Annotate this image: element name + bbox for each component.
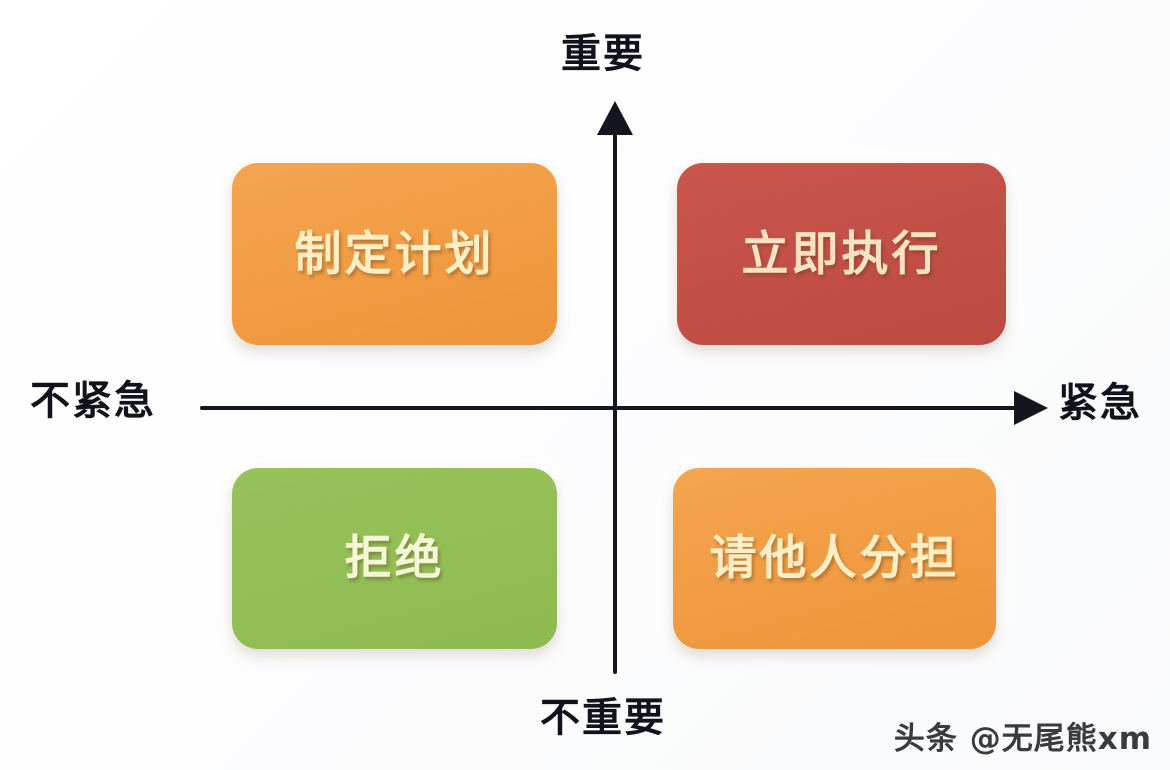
axis-label-not-urgent: 不紧急	[30, 381, 156, 421]
quadrant-important-not-urgent[interactable]: 制定计划	[232, 163, 557, 345]
arrow-up-icon	[597, 101, 633, 135]
eisenhower-matrix-diagram: 重要 不重要 不紧急 紧急 制定计划 立即执行 拒绝 请他人分担 头条 @无尾熊…	[0, 0, 1170, 770]
arrow-right-icon	[1014, 391, 1048, 425]
quadrant-not-important-not-urgent[interactable]: 拒绝	[232, 468, 557, 649]
watermark-text: 头条 @无尾熊xm	[894, 713, 1152, 758]
quadrant-label-delegate: 请他人分担	[710, 535, 960, 582]
axis-label-important: 重要	[561, 34, 645, 74]
horizontal-axis-line	[200, 406, 1036, 410]
quadrant-not-important-urgent[interactable]: 请他人分担	[673, 468, 996, 649]
axis-label-not-important: 不重要	[540, 698, 666, 738]
quadrant-label-execute-now: 立即执行	[742, 231, 942, 278]
vertical-axis-line	[613, 112, 617, 674]
quadrant-important-urgent[interactable]: 立即执行	[677, 163, 1006, 345]
quadrant-label-make-plan: 制定计划	[295, 231, 495, 278]
quadrant-label-refuse: 拒绝	[345, 535, 445, 582]
axis-label-urgent: 紧急	[1058, 383, 1142, 423]
